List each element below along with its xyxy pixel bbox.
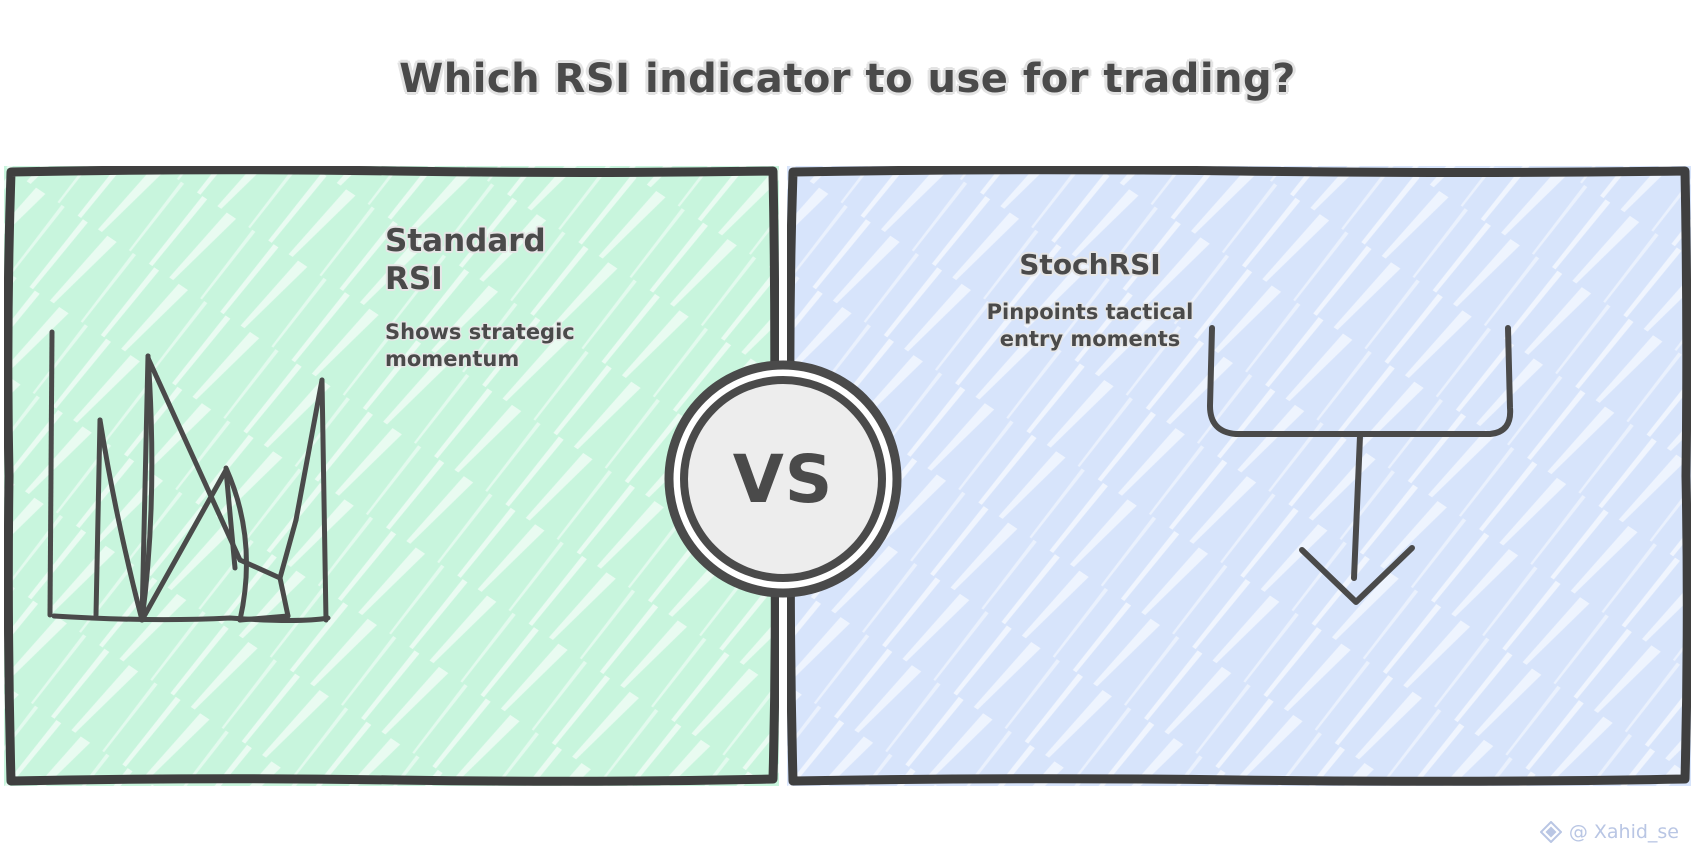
watermark-handle: @ Xahid_se xyxy=(1569,821,1679,843)
left-heading-line2: RSI xyxy=(385,260,685,298)
right-subtext: Pinpoints tactical entry moments xyxy=(930,299,1250,354)
right-subtext-line2: entry moments xyxy=(930,326,1250,353)
page-title: Which RSI indicator to use for trading? xyxy=(0,56,1695,102)
left-subtext: Shows strategic momentum xyxy=(385,319,685,374)
right-heading: StochRSI xyxy=(930,248,1250,283)
infographic-canvas: Which RSI indicator to use for trading? xyxy=(0,0,1695,855)
watermark: @ Xahid_se xyxy=(1540,821,1679,843)
diamond-icon xyxy=(1540,821,1562,843)
left-heading: Standard RSI xyxy=(385,222,685,299)
right-panel-text: StochRSI Pinpoints tactical entry moment… xyxy=(930,248,1250,353)
left-panel-text: Standard RSI Shows strategic momentum xyxy=(385,222,685,373)
left-subtext-line2: momentum xyxy=(385,346,685,373)
versus-badge: VS xyxy=(662,358,904,600)
left-heading-line1: Standard xyxy=(385,222,685,260)
versus-label: VS xyxy=(662,358,904,600)
left-subtext-line1: Shows strategic xyxy=(385,319,685,346)
right-subtext-line1: Pinpoints tactical xyxy=(930,299,1250,326)
